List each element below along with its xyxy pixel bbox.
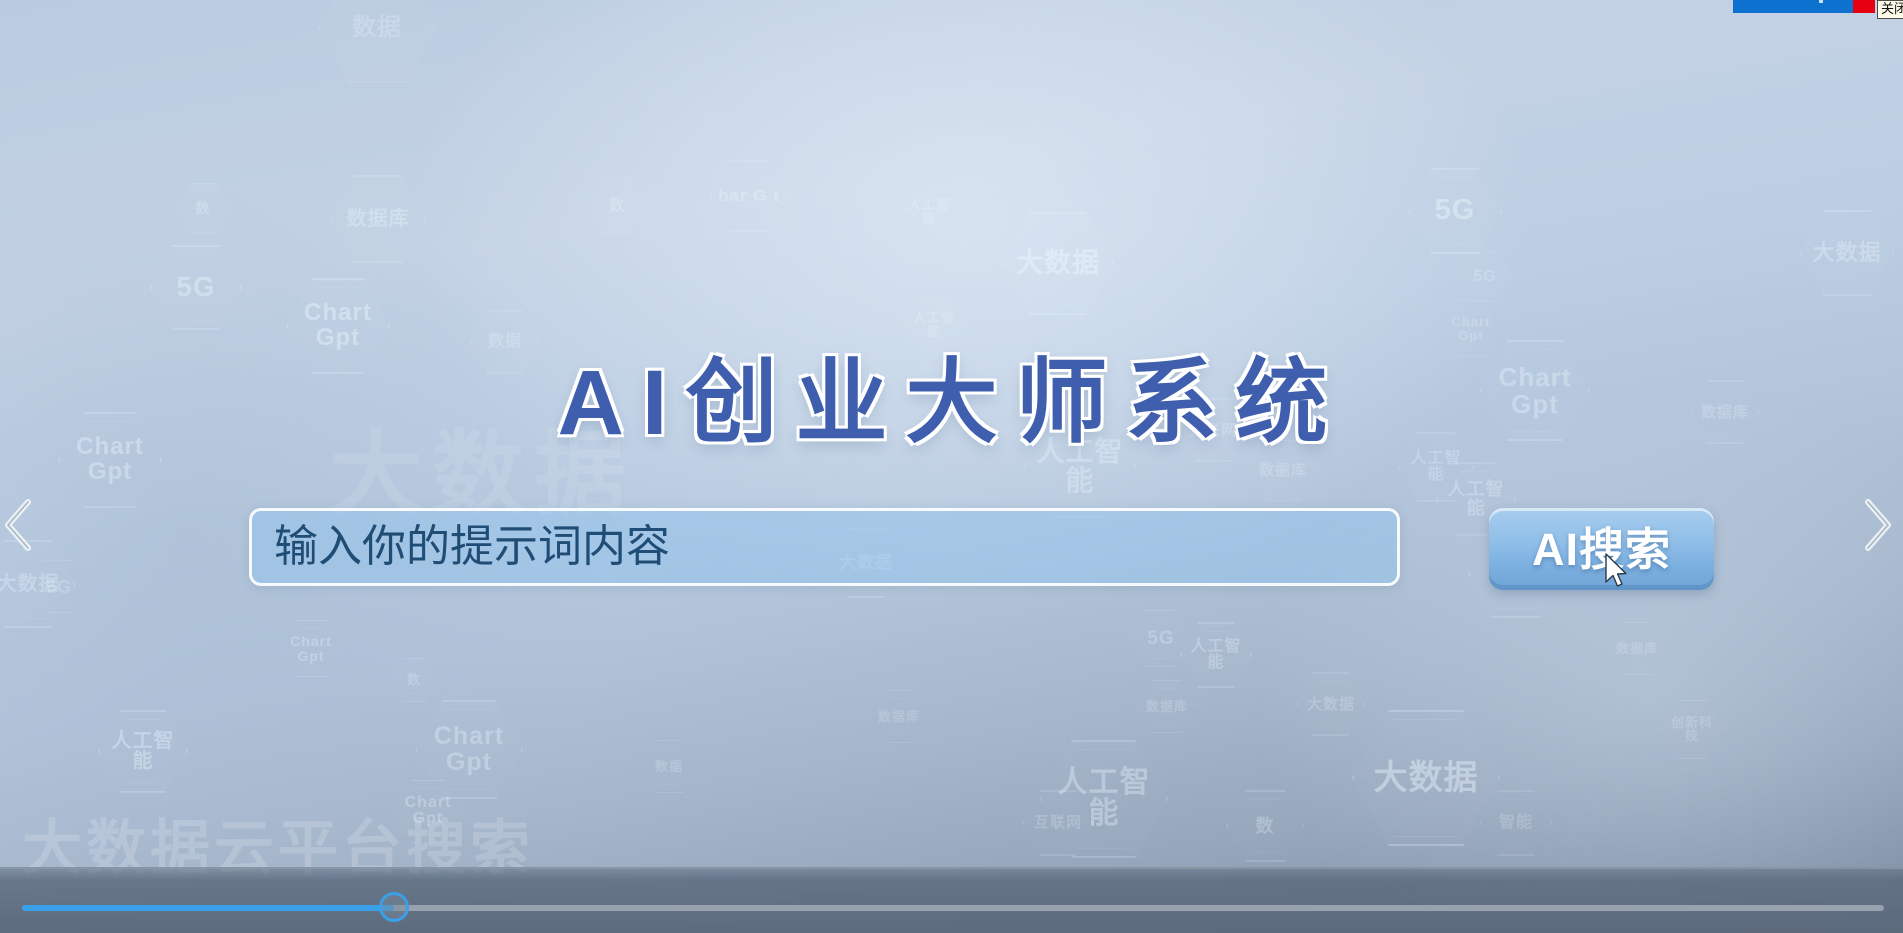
hexagon-decoration: 5G [150, 245, 242, 330]
hexagon-decoration: 5G [1130, 610, 1192, 667]
hexagon-decoration: 5G [1458, 252, 1512, 302]
page-title: AI创业大师系统 [0, 328, 1903, 461]
chevron-left-icon [0, 490, 44, 560]
hexagon-label: 5G [40, 578, 78, 596]
hexagon-label: 互联网 [1028, 815, 1088, 830]
chevron-right-icon [1852, 490, 1898, 560]
hexagon-label: 大数据 [1301, 697, 1361, 712]
hexagon-label: 数据库 [341, 209, 416, 229]
hexagon-outline [1352, 710, 1500, 846]
hexagon-label: 数据库 [1140, 700, 1194, 713]
background-sheen-right [1250, 380, 1903, 933]
hexagon-outline [318, 0, 436, 83]
hexagon-outline [1180, 622, 1252, 688]
hexagon-outline [1660, 700, 1724, 759]
hexagon-label: 5G [170, 273, 221, 302]
hexagon-label: Chart Gpt [415, 724, 523, 775]
hexagon-outline [280, 620, 342, 677]
hexagon-label: 数 [1250, 817, 1281, 835]
hexagon-decoration: 人工智能 [1180, 622, 1252, 688]
hexagon-label: 数 [603, 198, 631, 213]
hexagon-outline [1480, 790, 1552, 856]
hexagon-decoration: 5G [30, 560, 88, 613]
hexagon-outline [394, 780, 462, 843]
hexagon-decoration: Chart Gpt [394, 780, 462, 843]
hexagon-decoration: har G t [710, 160, 788, 232]
hexagon-label: 人工智能 [1180, 639, 1252, 672]
hexagon-outline [586, 177, 648, 234]
app-screen: 数据数据库数5GChart GptChart Gpt大数据Chart Gpt人工… [0, 0, 1903, 933]
hexagon-label: 人工智能 [900, 198, 958, 225]
hexagon-outline [1226, 790, 1304, 862]
hexagon-decoration: 人工智能 [900, 185, 958, 238]
carousel-prev-arrow[interactable] [0, 490, 44, 560]
hexagon-outline [1408, 168, 1502, 254]
hexagon-decoration: 人工智能 [1040, 740, 1168, 858]
hexagon-outline [1138, 680, 1196, 733]
hexagon-outline [415, 700, 523, 799]
hexagon-label: 人工智能 [1040, 768, 1168, 829]
hexagon-label: 5G [1429, 196, 1482, 226]
hexagon-outline [1040, 740, 1168, 858]
hexagon-decoration: 人工智能 [98, 710, 188, 793]
hexagon-decoration: 5G [1408, 168, 1502, 254]
hexagon-label: 5G [1141, 629, 1180, 648]
hexagon-label: Chart Gpt [394, 795, 462, 828]
hexagon-outline [1022, 790, 1094, 856]
hexagon-outline [1002, 212, 1114, 315]
playback-slider-fill [22, 905, 394, 911]
hexagon-decoration: 大数据 [1352, 710, 1500, 846]
hexagon-decoration: 数据 [640, 740, 698, 793]
hexagon-decoration: 互联网 [1022, 790, 1094, 856]
hexagon-decoration: 数据库 [870, 690, 928, 743]
hexagon-decoration: 数据 [318, 0, 436, 83]
hexagon-label: 大数据 [0, 574, 66, 594]
hexagon-label: 5G [1467, 269, 1502, 285]
hexagon-label: 大数据 [1368, 761, 1485, 796]
hexagon-outline [640, 740, 698, 793]
hexagon-decoration: 创新科技 [1660, 700, 1724, 759]
hexagon-decoration: Chart Gpt [415, 700, 523, 799]
hexagon-label: 大数据 [1010, 250, 1106, 278]
hexagon-decoration: 大数据 [1296, 672, 1366, 736]
top-progress-bar [1733, 0, 1853, 13]
hexagon-label: 数据库 [1610, 642, 1664, 655]
playback-slider-handle[interactable] [379, 892, 409, 922]
hexagon-decoration: 数 [1226, 790, 1304, 862]
hexagon-label: 数据 [346, 16, 408, 40]
top-progress-notch [1819, 0, 1823, 3]
hexagon-label: 智能 [1493, 815, 1539, 831]
hexagon-outline [1130, 610, 1192, 667]
hexagon-decoration: 智能 [1480, 790, 1552, 856]
hexagon-decoration: 大数据 [1002, 212, 1114, 315]
hexagon-decoration: 数 [176, 183, 230, 233]
hexagon-outline [150, 245, 242, 330]
hexagon-label: har G t [712, 187, 786, 204]
playback-slider[interactable] [22, 905, 1884, 911]
hexagon-outline [98, 710, 188, 793]
hexagon-outline [330, 175, 426, 263]
bottom-toolbar [0, 867, 1903, 933]
hexagon-decoration: Chart Gpt [280, 620, 342, 677]
hexagon-decoration: 数 [390, 658, 438, 702]
hexagon-outline [176, 183, 230, 233]
hexagon-label: 数据 [649, 760, 689, 773]
hexagon-label: 大数据 [1806, 242, 1887, 264]
hexagon-decoration: 大数据 [1800, 210, 1894, 296]
hexagon-outline [870, 690, 928, 743]
hexagon-decoration: 数据库 [1608, 622, 1666, 675]
hexagon-outline [1800, 210, 1894, 296]
hexagon-outline [1608, 622, 1666, 675]
hexagon-decoration: 数据库 [1138, 680, 1196, 733]
hexagon-label: 数 [190, 201, 217, 215]
close-button[interactable] [1853, 0, 1875, 13]
hexagon-outline [390, 658, 438, 702]
hexagon-outline [1458, 252, 1512, 302]
ai-search-button[interactable]: AI搜索 [1489, 508, 1714, 590]
hexagon-decoration: 数据库 [330, 175, 426, 263]
hexagon-label: Chart Gpt [280, 634, 342, 663]
search-input[interactable] [249, 508, 1400, 586]
hexagon-decoration: 数 [586, 177, 648, 234]
hexagon-label: 创新科技 [1660, 716, 1724, 743]
hexagon-decoration-layer: 数据数据库数5GChart GptChart Gpt大数据Chart Gpt人工… [0, 0, 1903, 933]
hexagon-label: 数据库 [872, 710, 926, 723]
hexagon-outline [30, 560, 88, 613]
carousel-next-arrow[interactable] [1852, 490, 1898, 560]
hexagon-outline [710, 160, 788, 232]
close-tooltip: 关闭 [1877, 0, 1903, 19]
hexagon-outline [900, 185, 958, 238]
hexagon-label: 数据库 [1253, 463, 1313, 478]
hexagon-outline [1296, 672, 1366, 736]
hexagon-label: 人工智能 [98, 731, 188, 772]
hexagon-label: 数 [401, 673, 427, 686]
